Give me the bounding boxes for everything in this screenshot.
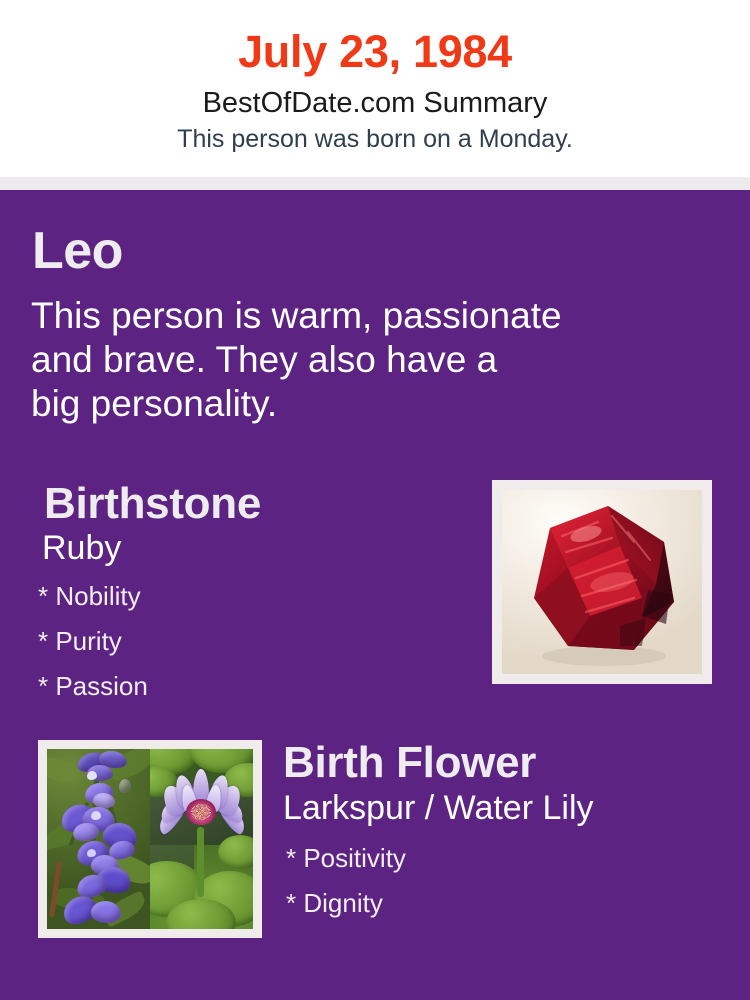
birth-flower-photo-frame [38, 740, 262, 938]
birthstone-name: Ruby [42, 528, 468, 568]
birth-flower-heading: Birth Flower [283, 737, 733, 789]
header-divider [0, 177, 750, 190]
list-item: * Nobility [38, 574, 468, 619]
birthstone-trait-list: * Nobility * Purity * Passion [38, 574, 468, 709]
birth-flower-trait-list: * Positivity * Dignity [286, 836, 733, 926]
list-item: * Dignity [286, 881, 733, 926]
zodiac-sign-title: Leo [32, 220, 123, 282]
zodiac-description: This person is warm, passionate and brav… [31, 294, 691, 426]
birth-flower-section: Birth Flower Larkspur / Water Lily * Pos… [283, 737, 733, 926]
ruby-crystal-icon [516, 498, 688, 668]
list-item: * Purity [38, 619, 468, 664]
page-header: July 23, 1984 BestOfDate.com Summary Thi… [0, 0, 750, 177]
site-summary-label: BestOfDate.com Summary [0, 86, 750, 120]
born-day-note: This person was born on a Monday. [0, 124, 750, 154]
list-item: * Passion [38, 664, 468, 709]
list-item: * Positivity [286, 836, 733, 881]
page-title-date: July 23, 1984 [0, 26, 750, 78]
birth-flower-name: Larkspur / Water Lily [283, 788, 733, 828]
birthstone-section: Birthstone Ruby * Nobility * Purity * Pa… [38, 478, 468, 709]
birthstone-photo-frame [492, 480, 712, 684]
birthstone-heading: Birthstone [44, 478, 468, 530]
larkspur-photo [47, 749, 150, 929]
water-lily-photo [150, 749, 253, 929]
birthstone-photo [502, 490, 702, 674]
birth-flower-photo [47, 749, 253, 929]
birthday-summary-page: July 23, 1984 BestOfDate.com Summary Thi… [0, 0, 750, 1000]
